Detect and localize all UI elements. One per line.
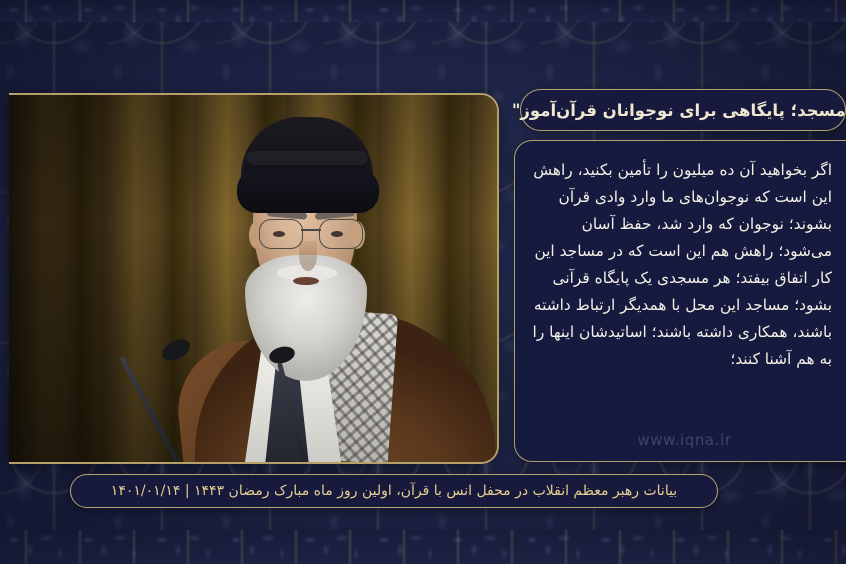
microphone-stand-left xyxy=(119,356,180,464)
headline-text: "مسجد؛ پایگاهی برای نوجوانان قرآن‌آموز" xyxy=(512,101,846,120)
speaker-turban-wrap xyxy=(237,169,379,213)
microphone-head-left xyxy=(159,335,194,365)
quote-panel: اگر بخواهید آن ده میلیون را تأمین بکنید،… xyxy=(514,140,846,462)
glasses-lens-right xyxy=(319,219,363,249)
site-watermark: www.iqna.ir xyxy=(515,431,846,449)
caption-text: بیانات رهبر معظم انقلاب در محفل انس با ق… xyxy=(111,483,677,499)
glasses-bridge xyxy=(301,229,321,231)
speaker-photo xyxy=(9,93,499,464)
poster-canvas: "مسجد؛ پایگاهی برای نوجوانان قرآن‌آموز" … xyxy=(0,0,846,564)
speaker-glasses xyxy=(259,219,363,249)
caption-pill: بیانات رهبر معظم انقلاب در محفل انس با ق… xyxy=(70,474,718,508)
speaker-figure xyxy=(9,95,497,462)
glasses-lens-left xyxy=(259,219,303,249)
speaker-mouth xyxy=(293,277,319,285)
quote-text: اگر بخواهید آن ده میلیون را تأمین بکنید،… xyxy=(531,157,832,373)
headline-pill: "مسجد؛ پایگاهی برای نوجوانان قرآن‌آموز" xyxy=(520,89,846,131)
